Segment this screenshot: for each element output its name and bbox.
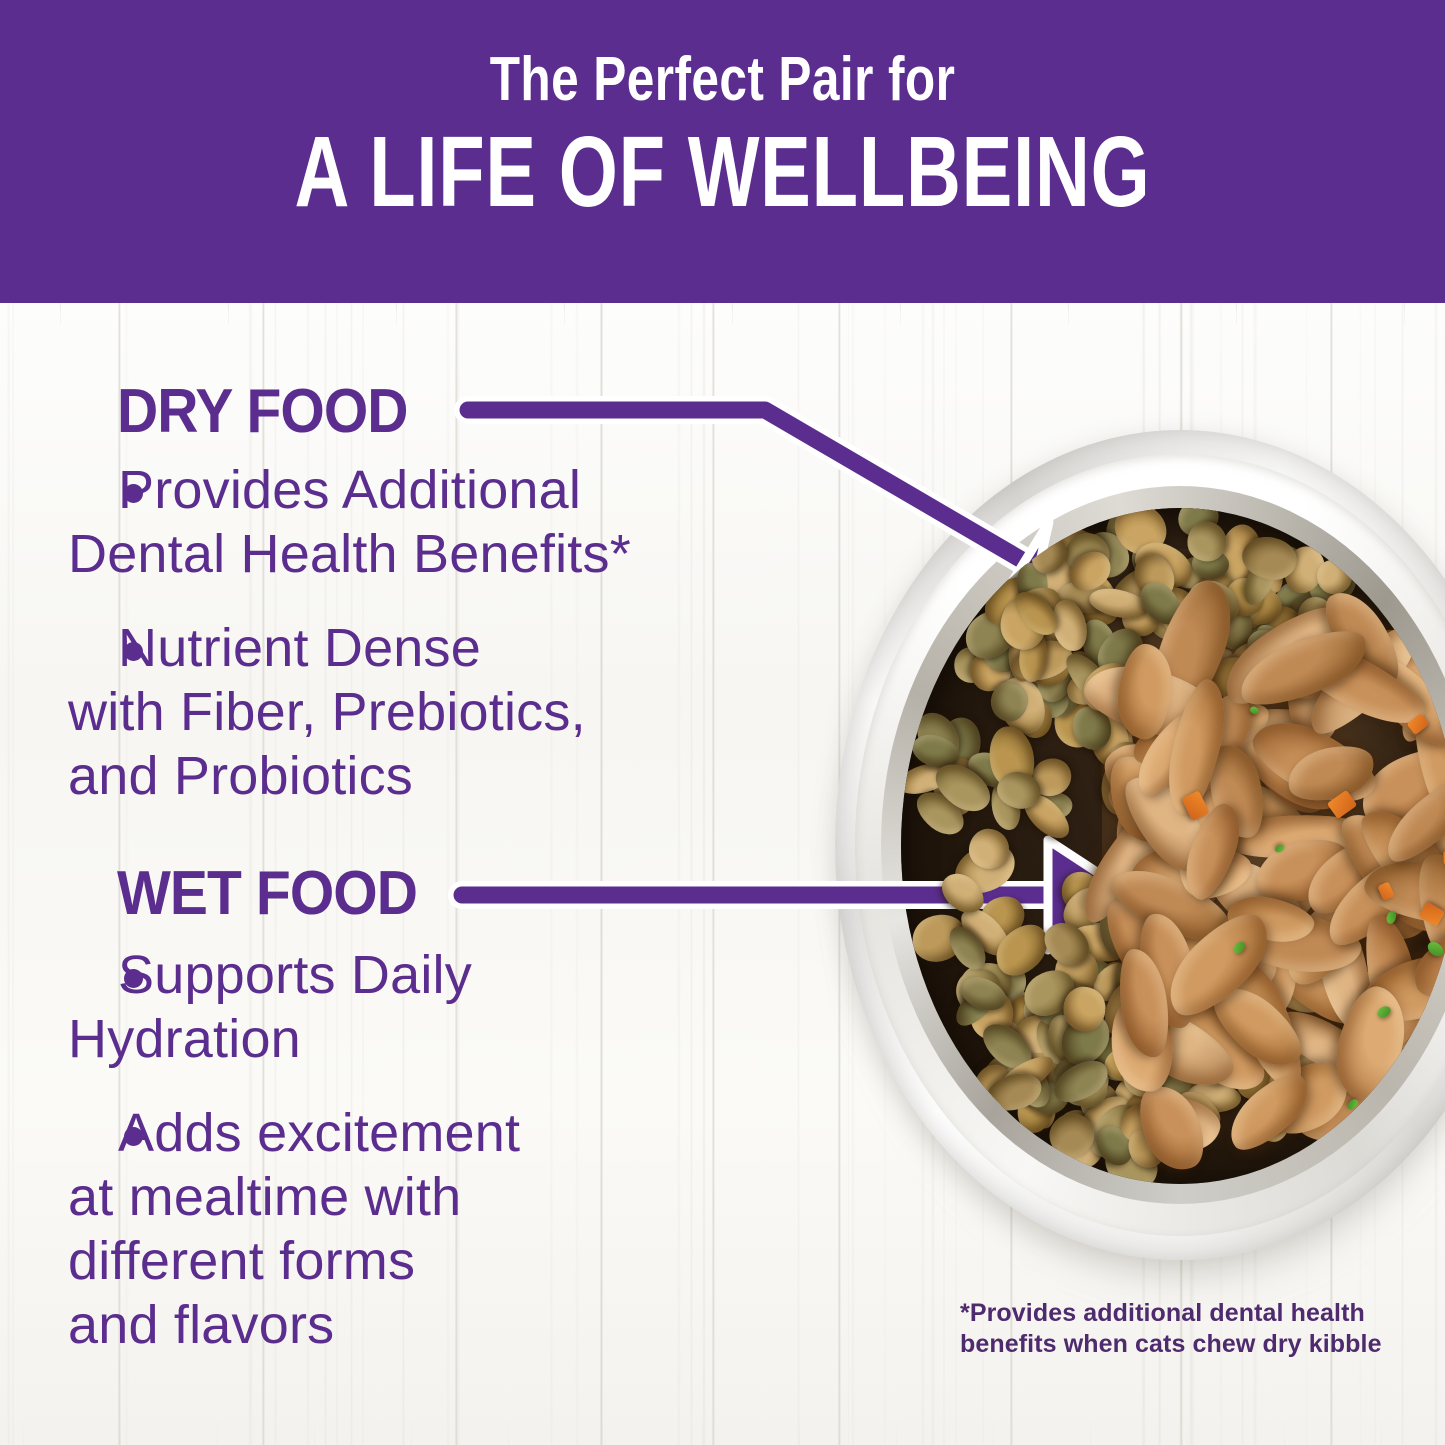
infographic-canvas: The Perfect Pair for A LIFE OF WELLBEING… xyxy=(0,0,1445,1445)
bullet-continuation-line: and Probiotics xyxy=(68,744,760,808)
bowl-cavity xyxy=(901,508,1445,1184)
bullet-first-line: Provides Additional xyxy=(118,458,760,522)
bullet-item: Adds excitementat mealtime withdifferent… xyxy=(0,1101,760,1357)
bullet-first-line: Adds excitement xyxy=(118,1101,760,1165)
section-title-dry-food: DRY FOOD xyxy=(117,381,408,443)
bullet-continuation-line: with Fiber, Prebiotics, xyxy=(68,680,760,744)
section-title-wet-food: WET FOOD xyxy=(117,863,417,925)
bullet-continuation-line: Dental Health Benefits* xyxy=(68,522,760,586)
bullet-first-line: Nutrient Dense xyxy=(118,616,760,680)
bullet-list-dry-food: Provides AdditionalDental Health Benefit… xyxy=(0,458,760,838)
bullet-continuation-line: different forms xyxy=(68,1229,760,1293)
bullet-continuation-line: Hydration xyxy=(68,1007,760,1071)
bullet-item: Nutrient Densewith Fiber, Prebiotics,and… xyxy=(0,616,760,808)
bullet-dot-icon xyxy=(124,1127,143,1146)
bullet-list-wet-food: Supports DailyHydrationAdds excitementat… xyxy=(0,943,760,1387)
footnote-text: *Provides additional dental health benef… xyxy=(960,1298,1390,1360)
bullet-item: Supports DailyHydration xyxy=(0,943,760,1071)
bullet-dot-icon xyxy=(124,969,143,988)
bullet-dot-icon xyxy=(124,642,143,661)
bullet-continuation-line: and flavors xyxy=(68,1293,760,1357)
bullet-first-line: Supports Daily xyxy=(118,943,760,1007)
bullet-item: Provides AdditionalDental Health Benefit… xyxy=(0,458,760,586)
copy-column: DRY FOOD Provides AdditionalDental Healt… xyxy=(0,303,830,1445)
header-subtitle: The Perfect Pair for xyxy=(145,47,1301,113)
header-title: A LIFE OF WELLBEING xyxy=(173,120,1271,224)
bullet-dot-icon xyxy=(124,484,143,503)
bullet-continuation-line: at mealtime with xyxy=(68,1165,760,1229)
header-banner: The Perfect Pair for A LIFE OF WELLBEING xyxy=(0,0,1445,303)
pet-food-bowl-photo xyxy=(835,430,1445,1290)
food-layer xyxy=(901,508,1445,1184)
